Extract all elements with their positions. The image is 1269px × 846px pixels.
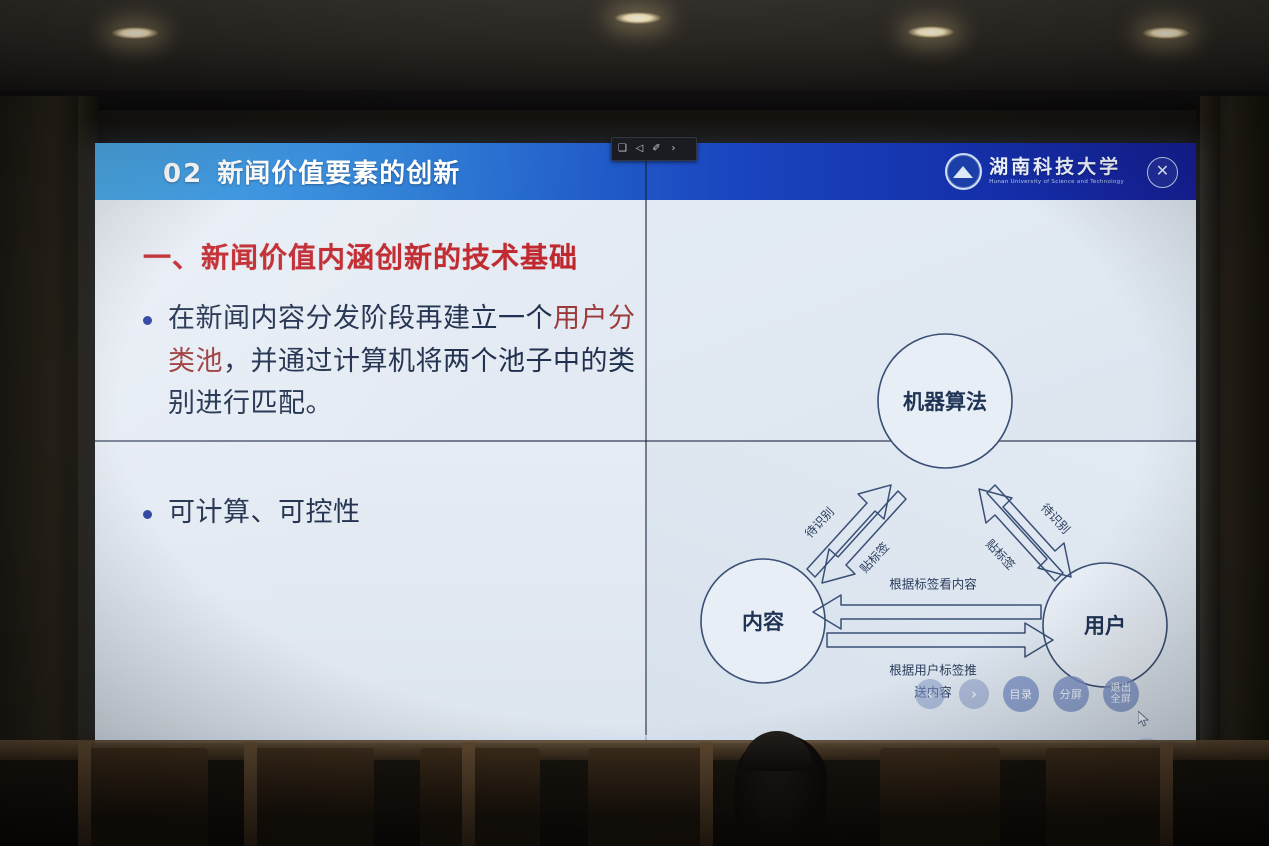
ceiling-light — [112, 27, 158, 39]
floating-mini-toolbar[interactable]: ❑ ◁ ✐ › — [611, 137, 697, 161]
diagram-arrow-user-to-content — [813, 595, 1041, 629]
exit-fullscreen-line1: 退出 — [1111, 683, 1132, 695]
diagram-label-content: 内容 — [742, 610, 784, 634]
university-name-en: Hunan University of Science and Technolo… — [989, 180, 1124, 186]
bullet-text: 在新闻内容分发阶段再建立一个用户分类池，并通过计算机将两个池子中的类别进行匹配。 — [168, 298, 648, 426]
video-wall-screen: 02新闻价值要素的创新 湖南科技大学 Hunan University of S… — [95, 143, 1196, 743]
diagram-edge-label-user-to-algorithm: 待识别 — [1038, 501, 1073, 537]
diagram-label-algorithm: 机器算法 — [903, 390, 987, 414]
university-seal-icon — [945, 153, 982, 190]
split-screen-button[interactable]: 分屏 — [1053, 676, 1089, 712]
volume-icon[interactable]: ◁ — [633, 143, 646, 156]
more-icon[interactable]: › — [667, 143, 680, 156]
diagram-edge-label-content-to-algorithm: 待识别 — [802, 505, 837, 541]
university-logo-text: 湖南科技大学 Hunan University of Science and T… — [989, 158, 1124, 186]
slide-controls: ‹ › 目录 分屏 退出 全屏 — [915, 671, 1165, 717]
bullet-segment: 在新闻内容分发阶段再建立一个 — [168, 303, 553, 334]
diagram-edge-label-user-to-content: 根据标签看内容 — [889, 577, 977, 592]
ceiling-light — [908, 26, 954, 38]
bullet-text: 可计算、可控性 — [168, 492, 648, 535]
list-item: 在新闻内容分发阶段再建立一个用户分类池，并通过计算机将两个池子中的类别进行匹配。 — [143, 298, 655, 426]
pin-icon[interactable]: ✐ — [650, 143, 663, 156]
bullet-dot-icon — [143, 510, 152, 519]
ceiling-light — [1143, 27, 1189, 39]
bullet-dot-icon — [143, 316, 152, 325]
exit-fullscreen-button[interactable]: 退出 全屏 — [1103, 676, 1139, 712]
ceiling-light — [615, 12, 661, 24]
cycle-diagram: 机器算法 内容 用户 待识别 贴标签 待识别 贴标签 根据标签看内容 根据用户标… — [695, 333, 1175, 713]
slide-content: 一、新闻价值内涵创新的技术基础 在新闻内容分发阶段再建立一个用户分类池，并通过计… — [95, 200, 655, 535]
diagram-edge-label-algorithm-to-content: 贴标签 — [857, 539, 893, 576]
close-icon[interactable]: ✕ — [1147, 157, 1178, 188]
screen-light-spill — [95, 735, 1196, 749]
bullet-segment: 可计算、可控性 — [168, 497, 361, 528]
catalog-button[interactable]: 目录 — [1003, 676, 1039, 712]
prev-slide-button[interactable]: ‹ — [915, 679, 945, 709]
page-title: 02新闻价值要素的创新 — [163, 153, 460, 190]
bullet-segment: ，并通过计算机将两个池子中的类别进行匹配。 — [168, 346, 636, 420]
exit-fullscreen-line2: 全屏 — [1111, 694, 1132, 706]
screenshot-icon[interactable]: ❑ — [616, 143, 629, 156]
slide-title-text: 新闻价值要素的创新 — [217, 159, 460, 189]
slide-number: 02 — [163, 159, 203, 189]
diagram-label-user: 用户 — [1084, 614, 1126, 638]
next-slide-button[interactable]: › — [959, 679, 989, 709]
university-logo: 湖南科技大学 Hunan University of Science and T… — [945, 149, 1124, 194]
section-heading: 一、新闻价值内涵创新的技术基础 — [143, 236, 655, 276]
wall-pillar — [1200, 96, 1220, 796]
university-name-cn: 湖南科技大学 — [989, 158, 1124, 177]
diagram-edge-label-algorithm-to-user: 贴标签 — [983, 536, 1019, 573]
diagram-arrow-content-to-user — [827, 623, 1053, 657]
list-item: 可计算、可控性 — [143, 492, 655, 535]
